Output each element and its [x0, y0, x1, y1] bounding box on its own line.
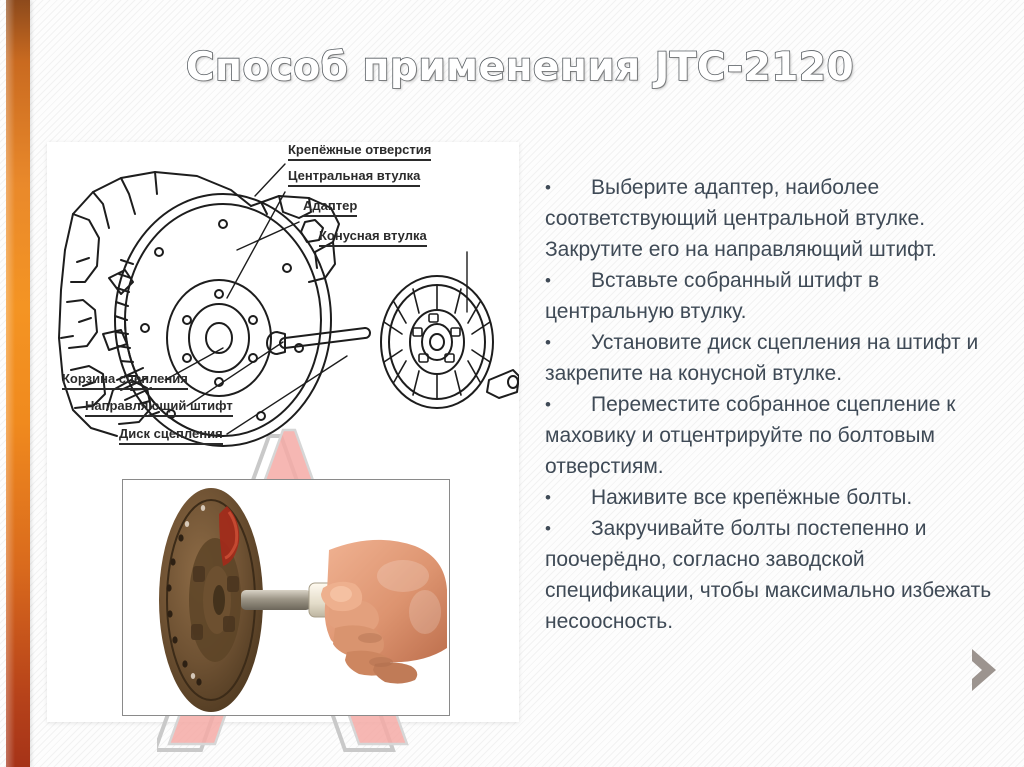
diagram-label-clutch-basket: Корзина сцепления	[62, 371, 188, 390]
clutch-assembly-diagram	[47, 142, 519, 487]
bullet-marker-icon: •	[545, 389, 591, 420]
list-item: •Вставьте собранный штифт в центральную …	[545, 265, 1000, 327]
bullet-marker-icon: •	[545, 482, 591, 513]
left-accent-bar	[6, 0, 30, 767]
bullet-marker-icon: •	[545, 265, 591, 296]
diagram-label-clutch-disc: Диск сцепления	[119, 426, 223, 445]
diagram-label-adapter: Адаптер	[303, 198, 357, 217]
page-title: Способ применения JTC-2120	[60, 45, 980, 90]
slide-canvas: Способ применения JTC-2120	[0, 0, 1024, 767]
installation-photo	[122, 479, 450, 716]
list-item-text: Наживите все крепёжные болты.	[591, 486, 912, 509]
bullet-marker-icon: •	[545, 513, 591, 544]
photo-illustration	[123, 480, 449, 715]
list-item: •Закручивайте болты постепенно и поочерё…	[545, 513, 1000, 637]
list-item: •Переместите собранное сцепление к махов…	[545, 389, 1000, 482]
chevron-right-icon[interactable]	[962, 645, 1006, 695]
list-item: •Наживите все крепёжные болты.	[545, 482, 1000, 513]
diagram-label-central-bushing: Центральная втулка	[288, 168, 420, 187]
list-item-text: Установите диск сцепления на штифт и зак…	[545, 331, 978, 385]
list-item-text: Переместите собранное сцепление к махови…	[545, 393, 956, 478]
list-item-text: Выберите адаптер, наиболее соответствующ…	[545, 176, 937, 261]
diagram-label-guide-pin: Направляющий штифт	[85, 398, 233, 417]
list-item: •Установите диск сцепления на штифт и за…	[545, 327, 1000, 389]
instructions-list: •Выберите адаптер, наиболее соответствую…	[545, 172, 1000, 637]
diagram-label-conical-bushing: Конусная втулка	[319, 228, 427, 247]
figure-panel: Крепёжные отверстия Центральная втулка А…	[47, 142, 519, 722]
bullet-marker-icon: •	[545, 172, 591, 203]
list-item: •Выберите адаптер, наиболее соответствую…	[545, 172, 1000, 265]
list-item-text: Вставьте собранный штифт в центральную в…	[545, 269, 879, 323]
list-item-text: Закручивайте болты постепенно и поочерёд…	[545, 517, 991, 633]
diagram-label-mounting-holes: Крепёжные отверстия	[288, 142, 431, 161]
bullet-marker-icon: •	[545, 327, 591, 358]
